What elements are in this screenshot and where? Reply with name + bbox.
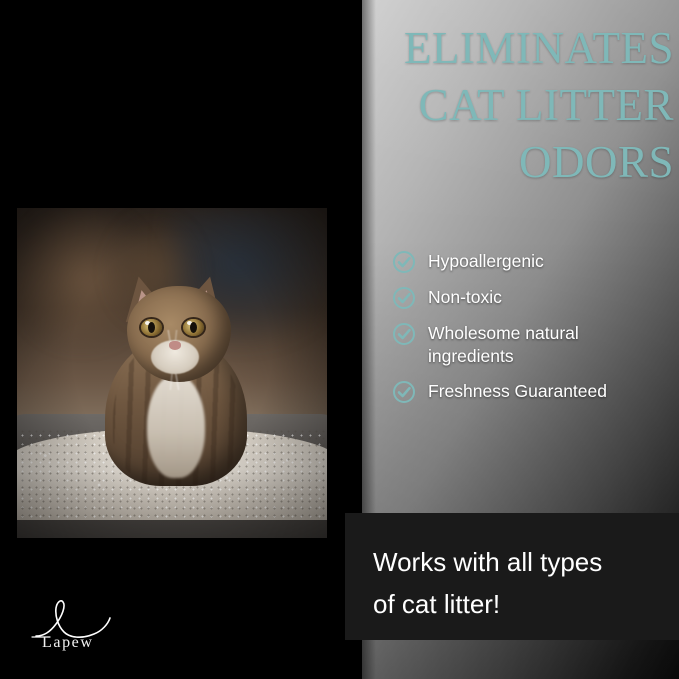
headline: ELIMINATES CAT LITTER ODORS <box>282 20 674 191</box>
callout-panel: Works with all types of cat litter! <box>345 513 679 640</box>
feature-item: Hypoallergenic <box>392 250 668 274</box>
feature-item: Freshness Guaranteed <box>392 380 668 404</box>
photo-vignette <box>17 208 327 538</box>
check-circle-icon <box>392 286 416 310</box>
feature-item: Wholesome natural ingredients <box>392 322 668 368</box>
cat-photo <box>17 208 327 538</box>
feature-item: Non-toxic <box>392 286 668 310</box>
check-circle-icon <box>392 380 416 404</box>
check-circle-icon <box>392 322 416 346</box>
callout-line-1: Works with all types <box>373 541 663 583</box>
headline-line-1: ELIMINATES <box>282 20 674 77</box>
advertisement-banner: ELIMINATES CAT LITTER ODORS <box>0 0 679 679</box>
photo-background <box>17 208 327 538</box>
brand-logo: Lapew <box>30 596 150 658</box>
check-circle-icon <box>392 250 416 274</box>
feature-list: Hypoallergenic Non-toxic Wholesome natur… <box>392 250 668 416</box>
feature-label: Hypoallergenic <box>428 250 544 273</box>
feature-label: Non-toxic <box>428 286 502 309</box>
feature-label: Wholesome natural ingredients <box>428 322 668 368</box>
feature-label: Freshness Guaranteed <box>428 380 607 403</box>
callout-line-2: of cat litter! <box>373 583 663 625</box>
callout-text: Works with all types of cat litter! <box>373 541 663 625</box>
brand-name: Lapew <box>42 634 94 652</box>
headline-line-3: ODORS <box>282 134 674 191</box>
headline-line-2: CAT LITTER <box>282 77 674 134</box>
